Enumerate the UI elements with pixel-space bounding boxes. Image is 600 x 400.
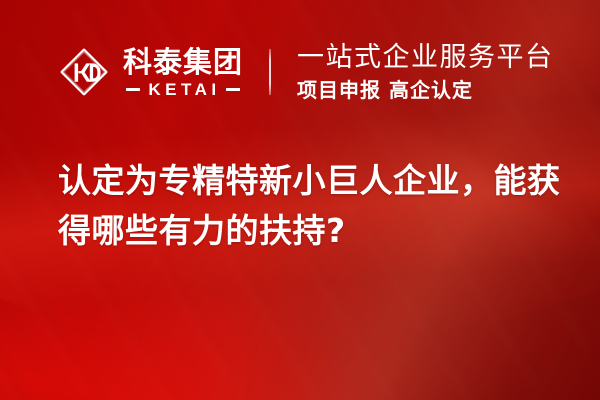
brand-lockup[interactable]: 科泰集团 KETAI <box>58 46 243 99</box>
brand-name-en-row: KETAI <box>123 81 243 99</box>
headline-block: 认定为专精特新小巨人企业，能获 得哪些有力的扶持? <box>58 156 558 256</box>
headline-line-1: 认定为专精特新小巨人企业，能获 <box>58 156 558 206</box>
ketai-diamond-kd-logo-icon <box>58 46 110 98</box>
brand-wordmark: 科泰集团 KETAI <box>123 46 243 99</box>
tagline-secondary: 项目申报 高企认定 <box>297 78 554 102</box>
tagline-group: 一站式企业服务平台 项目申报 高企认定 <box>297 42 554 102</box>
brand-rule-left-icon <box>126 88 140 91</box>
banner-header: 科泰集团 KETAI 一站式企业服务平台 项目申报 高企认定 <box>0 32 600 112</box>
brand-name-en: KETAI <box>140 81 225 99</box>
header-divider <box>269 49 271 95</box>
brand-rule-right-icon <box>226 88 240 91</box>
promo-banner: 科泰集团 KETAI 一站式企业服务平台 项目申报 高企认定 认定为专精特新小巨… <box>0 0 600 400</box>
headline-line-2: 得哪些有力的扶持? <box>58 206 558 256</box>
brand-name-cn: 科泰集团 <box>123 46 243 78</box>
tagline-primary: 一站式企业服务平台 <box>297 42 554 73</box>
